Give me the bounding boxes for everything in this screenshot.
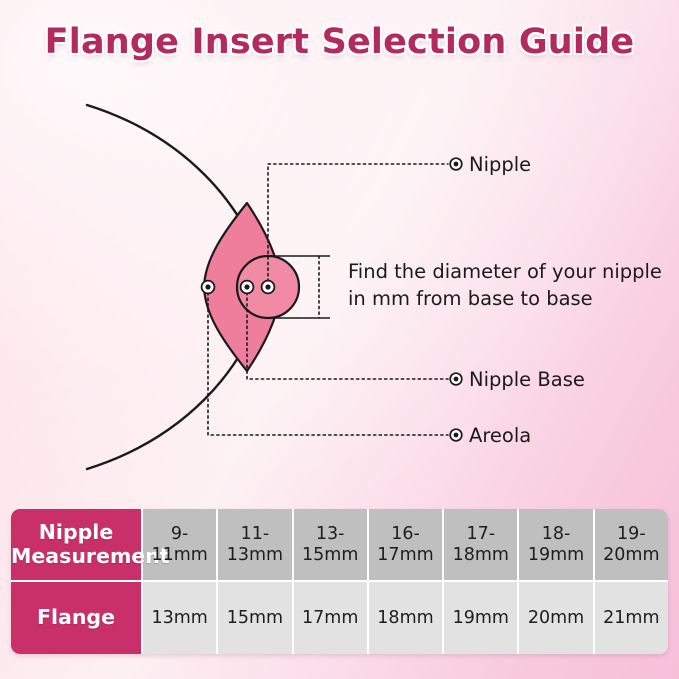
label-areola-text: Areola	[469, 424, 531, 447]
flange-cell: 20mm	[517, 580, 592, 654]
instruction-line-1: Find the diameter of your nipple	[348, 260, 662, 283]
measurement-cell: 18-19mm	[517, 509, 592, 580]
flange-cell: 15mm	[216, 580, 291, 654]
flange-cell: 17mm	[292, 580, 367, 654]
flange-cell: 19mm	[442, 580, 517, 654]
page-title: Flange Insert Selection Guide	[45, 22, 635, 62]
measurement-cell: 11-13mm	[216, 509, 291, 580]
bullseye-marker-nipple-anchor	[262, 281, 275, 294]
row-label-line2: Measurement	[11, 545, 141, 569]
label-areola: Areola	[450, 424, 531, 447]
measurement-cell: 17-18mm	[442, 509, 517, 580]
table-row-flange: Flange 13mm 15mm 17mm 18mm 19mm 20mm 21m…	[11, 580, 668, 654]
bullseye-marker-nipple-base-anchor	[241, 281, 254, 294]
row-label-line1: Nipple	[11, 521, 141, 545]
measurement-cell: 16-17mm	[367, 509, 442, 580]
measurement-cell: 13-15mm	[292, 509, 367, 580]
guide-page: Flange Insert Selection Guide	[0, 0, 679, 679]
table-row-measurement: Nipple Measurement 9-11mm 11-13mm 13-15m…	[11, 509, 668, 580]
row-label-nipple-measurement: Nipple Measurement	[11, 509, 141, 580]
instruction-line-2: in mm from base to base	[348, 287, 593, 310]
measurement-cell: 9-11mm	[141, 509, 216, 580]
label-nipple-text: Nipple	[469, 153, 531, 176]
flange-size-table: Nipple Measurement 9-11mm 11-13mm 13-15m…	[11, 509, 668, 654]
title-bar: Flange Insert Selection Guide	[0, 22, 679, 62]
label-nipple-base-text: Nipple Base	[469, 368, 585, 391]
row-label-flange: Flange	[11, 580, 141, 654]
measurement-cell: 19-20mm	[593, 509, 668, 580]
label-nipple: Nipple	[450, 153, 531, 176]
flange-cell: 18mm	[367, 580, 442, 654]
flange-cell: 21mm	[593, 580, 668, 654]
bullseye-marker-areola-anchor	[202, 281, 215, 294]
label-nipple-base: Nipple Base	[450, 368, 585, 391]
flange-cell: 13mm	[141, 580, 216, 654]
breast-anatomy-diagram: Nipple Nipple Base Areola Find the diame…	[0, 82, 679, 492]
